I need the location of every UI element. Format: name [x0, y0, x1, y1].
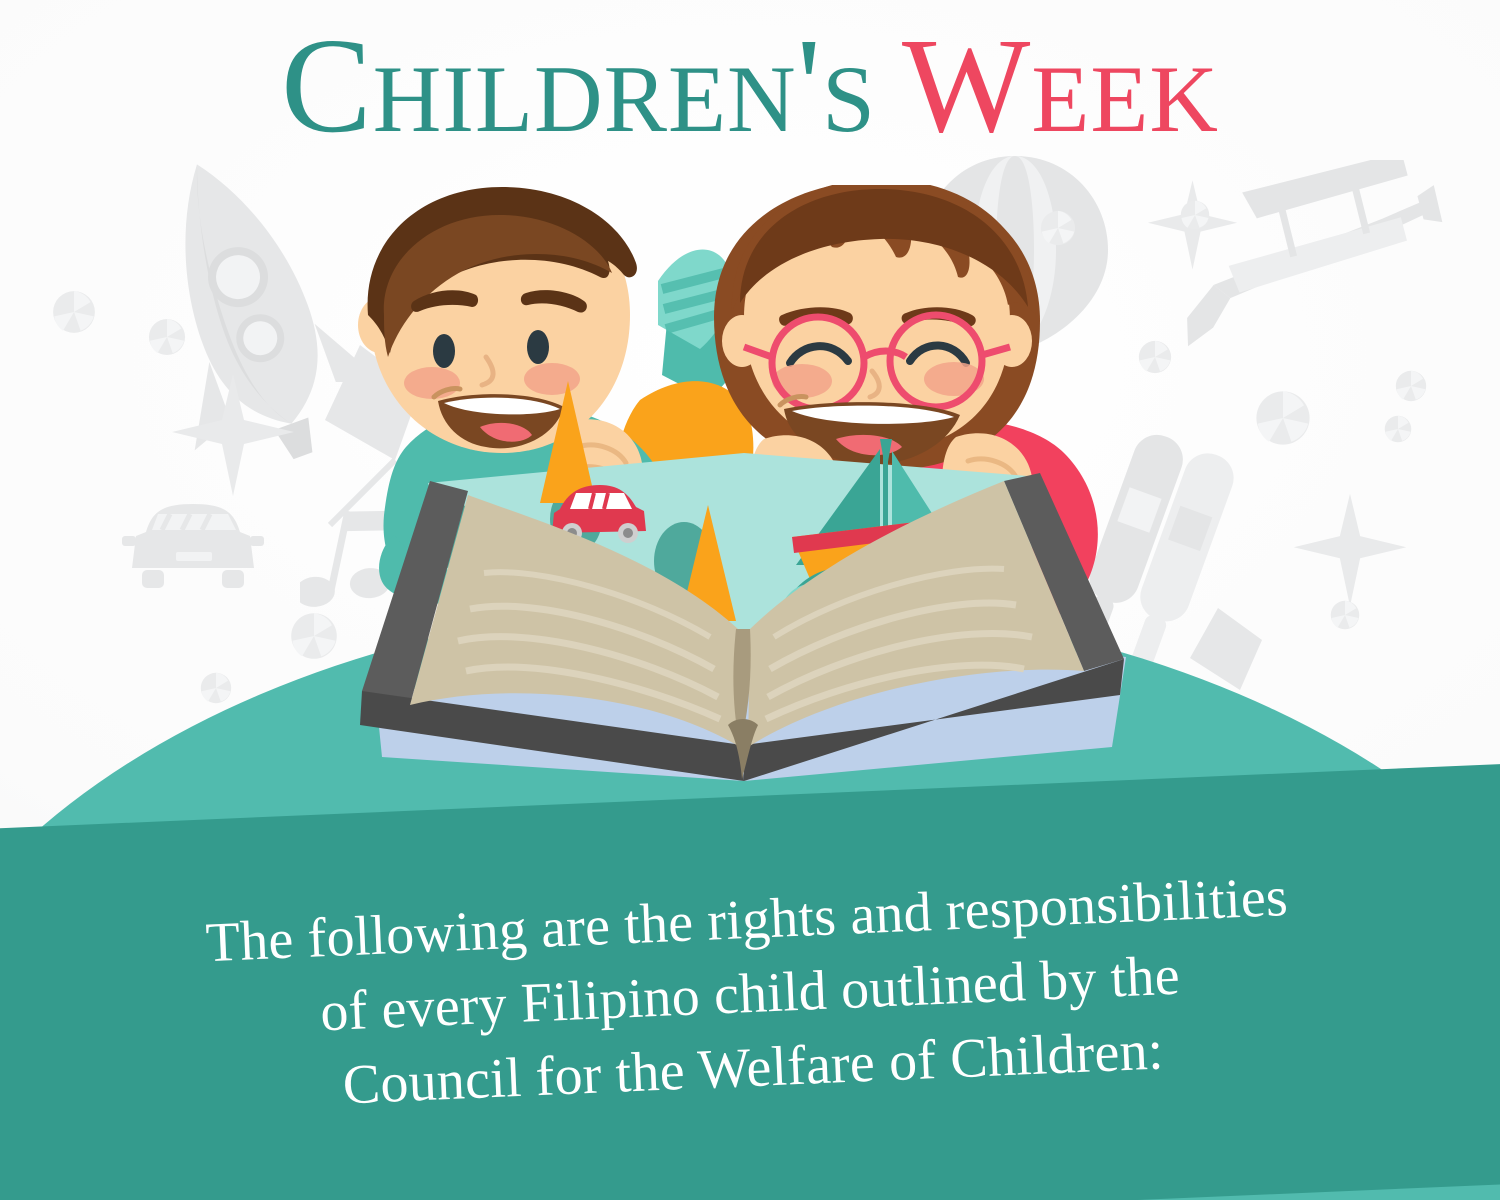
candy-swirl-icon [1180, 200, 1210, 230]
title-part-childrens: Children's [281, 11, 876, 161]
car-icon [118, 490, 268, 600]
candy-swirl-icon [52, 290, 96, 334]
girl-head [714, 185, 1040, 471]
candy-swirl-icon [1384, 415, 1412, 443]
title-part-week: Week [902, 11, 1219, 161]
candy-swirl-icon [200, 672, 232, 704]
star-icon [168, 370, 298, 500]
poster-canvas: Children'sWeek [0, 0, 1500, 1200]
biplane-icon [1168, 160, 1448, 350]
candy-swirl-icon [290, 612, 338, 660]
page-title: Children'sWeek [0, 18, 1500, 154]
candy-swirl-icon [148, 318, 186, 356]
boy-head [358, 187, 637, 453]
star-icon [1290, 480, 1410, 620]
children-reading-illustration [340, 185, 1160, 825]
candy-swirl-icon [1395, 370, 1427, 402]
candy-swirl-icon [1255, 390, 1311, 446]
candy-swirl-icon [1330, 600, 1360, 630]
